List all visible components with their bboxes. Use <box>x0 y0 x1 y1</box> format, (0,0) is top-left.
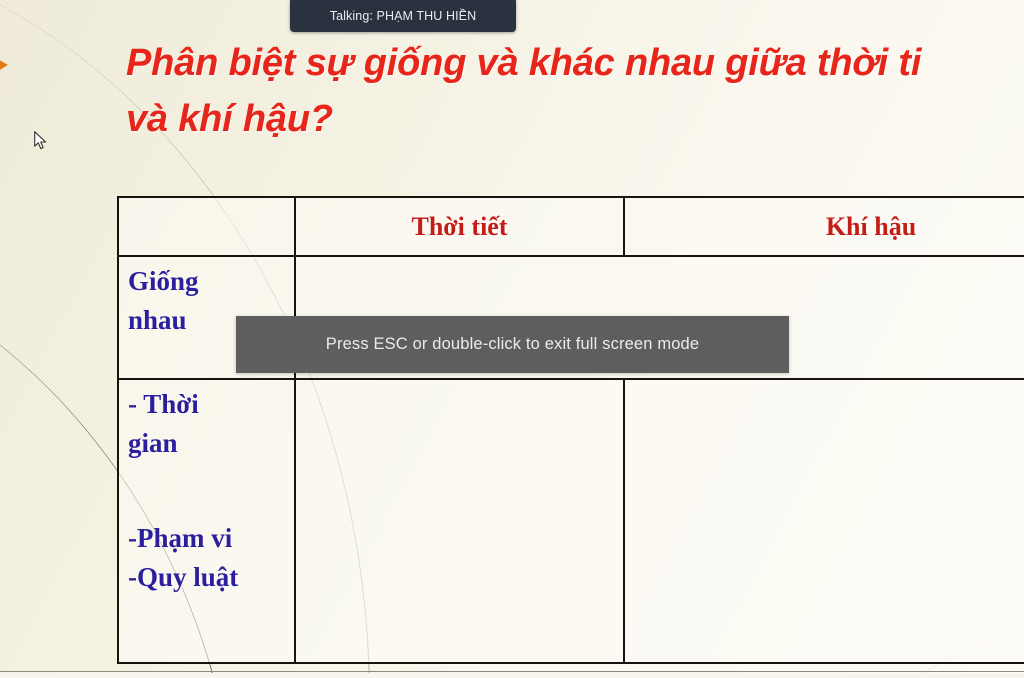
orange-arrow-icon <box>0 52 8 78</box>
comparison-table: Thời tiết Khí hậu Giống nhau - Thời gian… <box>117 196 1024 664</box>
table-row: - Thời gian -Phạm vi -Quy luật <box>118 379 1024 663</box>
talking-speaker-name: Talking: PHẠM THU HIỀN <box>330 9 476 23</box>
table-header-row: Thời tiết Khí hậu <box>118 197 1024 256</box>
cell-text <box>296 380 623 385</box>
talking-indicator-badge: Talking: PHẠM THU HIỀN <box>290 0 516 32</box>
row-label-differences: - Thời gian -Phạm vi -Quy luật <box>118 379 295 663</box>
mouse-cursor-icon <box>34 131 47 150</box>
fullscreen-exit-hint: Press ESC or double-click to exit full s… <box>236 316 789 373</box>
fullscreen-hint-text: Press ESC or double-click to exit full s… <box>326 335 699 354</box>
cell-climate-differences <box>624 379 1024 663</box>
slide-bottom-strip <box>0 673 1024 678</box>
header-cell-blank <box>118 197 295 256</box>
row-merged-text <box>296 257 1024 262</box>
spacer <box>119 462 294 504</box>
header-cell-weather: Thời tiết <box>295 197 624 256</box>
cell-text <box>625 380 1024 385</box>
slide-title: Phân biệt sự giống và khác nhau giữa thờ… <box>126 36 1024 148</box>
row-label-text-extra: -Phạm vi -Quy luật <box>119 504 294 596</box>
cell-weather-differences <box>295 379 624 663</box>
row-label-text: - Thời gian <box>119 380 294 462</box>
presentation-viewport: Talking: PHẠM THU HIỀN Phân biệt sự giốn… <box>0 0 1024 678</box>
header-cell-climate: Khí hậu <box>624 197 1024 256</box>
